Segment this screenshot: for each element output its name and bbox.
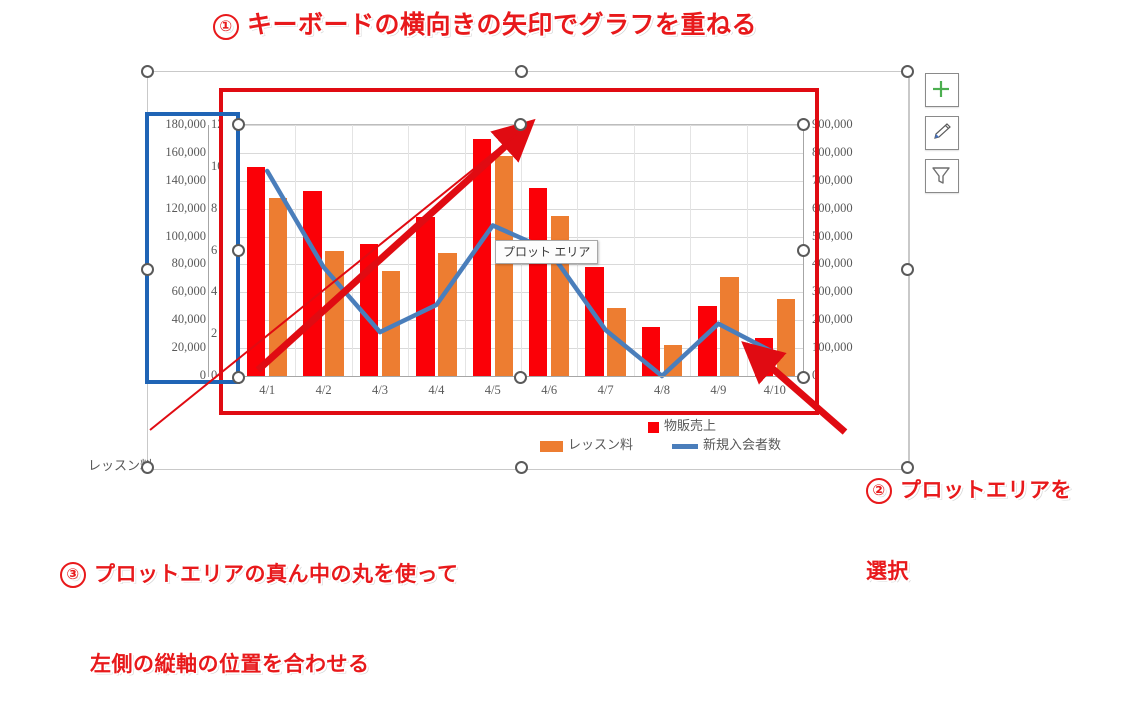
step-2-line1: プロットエリアを [900,479,1072,502]
legend-item-0[interactable]: 物販売上 [648,415,716,434]
plotarea-handle-bottom-right[interactable] [797,371,810,384]
step-2-line2: 選択 [866,560,909,583]
chart-handle-top-left[interactable] [141,65,154,78]
chart-filters-button[interactable] [925,159,959,193]
legend-swatch-orange [540,441,563,452]
plot-area-tooltip: プロット エリア [495,240,598,264]
annotation-step-3: ③プロットエリアの真ん中の丸を使って 左側の縦軸の位置を合わせる [60,500,458,710]
plotarea-handle-top-left[interactable] [232,118,245,131]
chart-handle-bottom-center[interactable] [515,461,528,474]
chart-elements-button[interactable] [925,73,959,107]
annotation-step-2: ②プロットエリアを 選択 [866,423,1072,612]
legend-label-1: レッスン料 [568,437,633,452]
chart-handle-top-right[interactable] [901,65,914,78]
legend-swatch-red [648,422,659,433]
chart-handle-bottom-right[interactable] [901,461,914,474]
chart-styles-button[interactable] [925,116,959,150]
legend-label-0: 物販売上 [664,418,716,433]
chart-handle-bottom-left[interactable] [141,461,154,474]
step-1-text: キーボードの横向きの矢印でグラフを重ねる [247,11,757,39]
annotation-step-1: ①キーボードの横向きの矢印でグラフを重ねる [213,5,757,41]
chart-handle-mid-left[interactable] [141,263,154,276]
legend-swatch-line [672,444,698,449]
step-1-number: ① [213,14,239,40]
legend-item-2[interactable]: 新規入会者数 [672,434,781,453]
plotarea-handle-bottom-center[interactable] [514,371,527,384]
step-3-line1: プロットエリアの真ん中の丸を使って [94,563,458,586]
legend-item-1[interactable]: レッスン料 [540,434,633,453]
legend-label-2: 新規入会者数 [703,437,781,452]
plotarea-handle-top-right[interactable] [797,118,810,131]
plotarea-handle-mid-left[interactable] [232,244,245,257]
step-2-number: ② [866,478,892,504]
chart-handle-mid-right[interactable] [901,263,914,276]
plotarea-handle-mid-right[interactable] [797,244,810,257]
plotarea-handle-top-center[interactable] [514,118,527,131]
chart-handle-top-center[interactable] [515,65,528,78]
step-3-number: ③ [60,562,86,588]
step-3-line2: 左側の縦軸の位置を合わせる [90,653,370,676]
left-axis-highlight-rect [145,112,240,384]
plotarea-handle-bottom-left[interactable] [232,371,245,384]
